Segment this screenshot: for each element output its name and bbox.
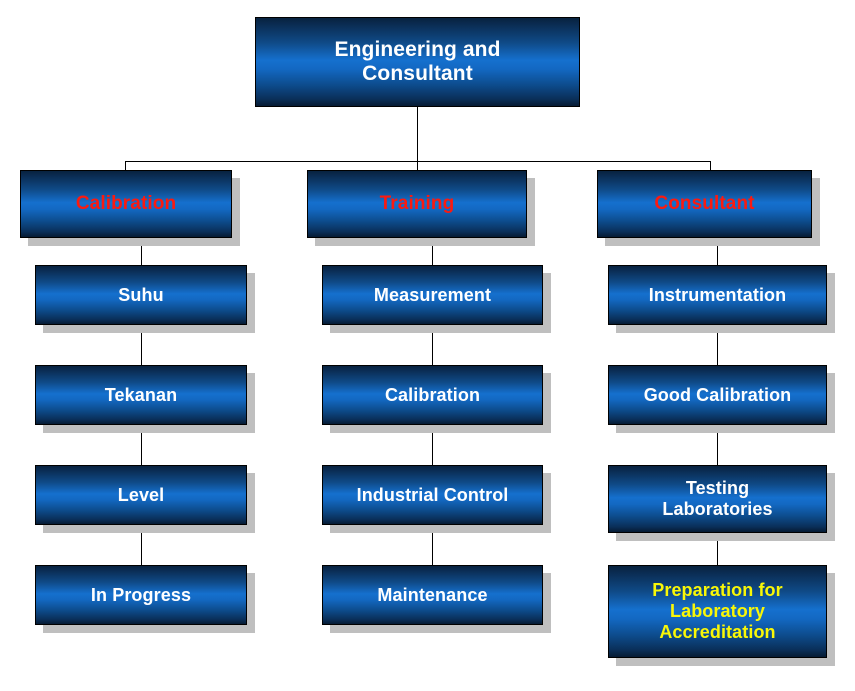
node-calibration-level[interactable]: Level xyxy=(35,465,247,525)
node-header-calibration-label: Calibration xyxy=(21,193,231,215)
connector-col2-3 xyxy=(432,428,433,466)
node-training-calibration-label: Calibration xyxy=(323,385,542,406)
node-calibration-in-progress[interactable]: In Progress xyxy=(35,565,247,625)
node-calibration-tekanan-label: Tekanan xyxy=(36,385,246,406)
node-header-consultant[interactable]: Consultant xyxy=(597,170,812,238)
node-consultant-preparation-for-laboratory-accreditation[interactable]: Preparation for Laboratory Accreditation xyxy=(608,565,827,658)
node-calibration-level-label: Level xyxy=(36,485,246,506)
connector-col1-3 xyxy=(141,428,142,466)
node-header-training-label: Training xyxy=(308,193,526,215)
node-calibration-in-progress-label: In Progress xyxy=(36,585,246,606)
node-consultant-good-calibration[interactable]: Good Calibration xyxy=(608,365,827,425)
node-root-engineering-and-consultant[interactable]: Engineering and Consultant xyxy=(255,17,580,107)
node-calibration-tekanan[interactable]: Tekanan xyxy=(35,365,247,425)
node-consultant-testing-laboratories-label: Testing Laboratories xyxy=(609,478,826,520)
node-header-consultant-label: Consultant xyxy=(598,193,811,215)
node-training-calibration[interactable]: Calibration xyxy=(322,365,543,425)
node-root-label: Engineering and Consultant xyxy=(256,38,579,87)
node-training-measurement[interactable]: Measurement xyxy=(322,265,543,325)
connector-col3-2 xyxy=(717,328,718,366)
node-consultant-instrumentation[interactable]: Instrumentation xyxy=(608,265,827,325)
node-consultant-preparation-label: Preparation for Laboratory Accreditation xyxy=(609,580,826,643)
connector-col1-4 xyxy=(141,528,142,566)
node-header-training[interactable]: Training xyxy=(307,170,527,238)
connector-root-stem xyxy=(417,107,418,161)
node-consultant-good-calibration-label: Good Calibration xyxy=(609,385,826,406)
connector-col1-2 xyxy=(141,328,142,366)
node-training-industrial-control[interactable]: Industrial Control xyxy=(322,465,543,525)
connector-col2-4 xyxy=(432,528,433,566)
node-training-maintenance-label: Maintenance xyxy=(323,585,542,606)
org-chart-canvas: Engineering and Consultant Calibration T… xyxy=(0,0,855,691)
connector-col2-2 xyxy=(432,328,433,366)
node-calibration-suhu-label: Suhu xyxy=(36,285,246,306)
node-header-calibration[interactable]: Calibration xyxy=(20,170,232,238)
node-calibration-suhu[interactable]: Suhu xyxy=(35,265,247,325)
node-training-industrial-control-label: Industrial Control xyxy=(323,485,542,506)
node-training-measurement-label: Measurement xyxy=(323,285,542,306)
node-consultant-instrumentation-label: Instrumentation xyxy=(609,285,826,306)
node-training-maintenance[interactable]: Maintenance xyxy=(322,565,543,625)
connector-col3-3 xyxy=(717,428,718,466)
node-consultant-testing-laboratories[interactable]: Testing Laboratories xyxy=(608,465,827,533)
